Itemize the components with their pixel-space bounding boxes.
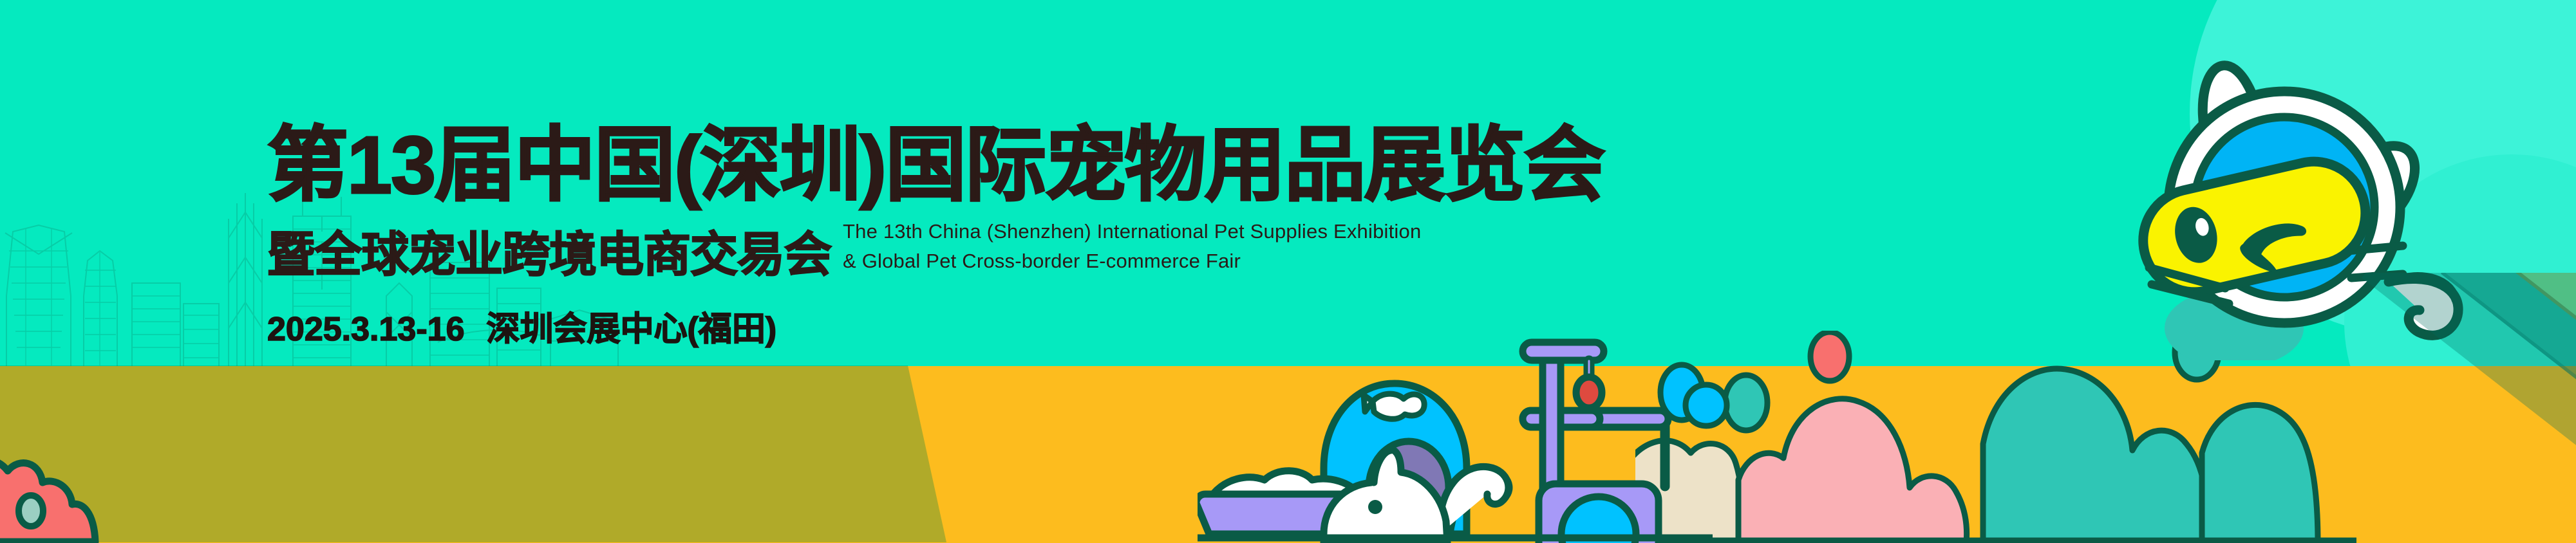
dangling-ball-toy: [1576, 377, 1602, 408]
event-date: 2025.3.13-16: [267, 311, 465, 348]
subtitle-english-line1: The 13th China (Shenzhen) International …: [843, 219, 1421, 249]
event-venue: 深圳会展中心(福田): [487, 311, 777, 348]
coral-cloud: [0, 440, 174, 543]
pet-props-group: [1198, 322, 1713, 543]
bush-cluster-right: [1635, 331, 2356, 543]
red-bubble: [1810, 332, 1849, 381]
subtitle-english: The 13th China (Shenzhen) International …: [843, 219, 1421, 279]
subtitle-chinese: 暨全球宠业跨境电商交易会: [267, 231, 831, 279]
page-title: 第13届中国(深圳)国际宠物用品展览会: [267, 122, 1604, 208]
headline-block: 第13届中国(深圳)国际宠物用品展览会 暨全球宠业跨境电商交易会 The 13t…: [267, 122, 1604, 350]
cat-tree: [1523, 342, 1668, 497]
pet-carrier: [1539, 484, 1659, 543]
exhibition-banner: 第13届中国(深圳)国际宠物用品展览会 暨全球宠业跨境电商交易会 The 13t…: [0, 0, 2576, 543]
diagonal-stripes: [2267, 273, 2576, 543]
subtitle-english-line2: & Global Pet Cross-border E-commerce Fai…: [843, 248, 1421, 279]
